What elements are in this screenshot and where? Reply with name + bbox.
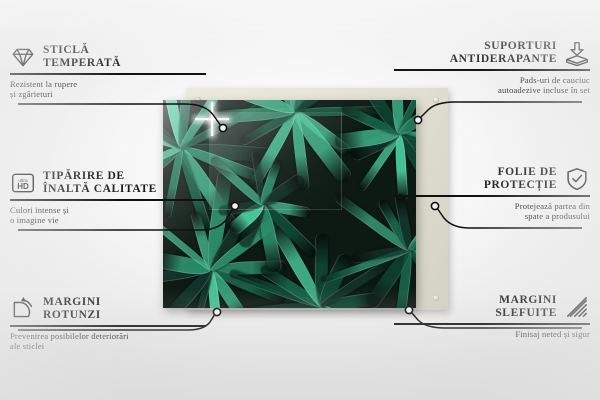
shield-check-icon <box>564 166 590 192</box>
feature-header: MARGINI SLEFUITE <box>394 294 590 320</box>
feature-description: Culori intense și o imagine vie <box>10 205 206 226</box>
feature-header: ultra HD TIPĂRIRE DE ÎNALTĂ CALITATE <box>10 170 206 196</box>
feature-header: SUPORTURI ANTIDERAPANTE <box>394 40 590 66</box>
feature-margini-rotunzi: MARGINI ROTUNZI Prevenirea posibilelor d… <box>10 296 206 352</box>
feature-divider <box>394 195 590 197</box>
feature-sticla-temperata: STICLĂ TEMPERATĂ Rezistent la rupere și … <box>10 44 206 100</box>
feature-header: FOLIE DE PROTECȚIE <box>394 166 590 192</box>
hatched-edge-icon <box>564 294 590 320</box>
feature-title: SUPORTURI ANTIDERAPANTE <box>450 40 557 65</box>
feature-description: Protejează partea din spate a produsului <box>394 201 590 222</box>
feature-title: FOLIE DE PROTECȚIE <box>484 166 557 191</box>
feature-title: MARGINI SLEFUITE <box>495 294 557 319</box>
rounded-corner-icon <box>10 296 36 322</box>
feature-divider <box>10 199 206 201</box>
feature-description: Finisaj neted și sigur <box>394 329 590 340</box>
press-pad-icon <box>564 40 590 66</box>
corner-pad <box>433 97 439 103</box>
feature-margini-slefuite: MARGINI SLEFUITE Finisaj neted și sigur <box>394 294 590 339</box>
feature-title: STICLĂ TEMPERATĂ <box>43 44 121 69</box>
infographic-canvas: STICLĂ TEMPERATĂ Rezistent la rupere și … <box>0 0 600 400</box>
feature-header: MARGINI ROTUNZI <box>10 296 206 322</box>
feature-title: MARGINI ROTUNZI <box>43 296 101 321</box>
feature-tiparire-inalta-calitate: ultra HD TIPĂRIRE DE ÎNALTĂ CALITATE Cul… <box>10 170 206 226</box>
ultra-hd-icon: ultra HD <box>10 170 36 196</box>
feature-suporturi-antiderapante: SUPORTURI ANTIDERAPANTE Pads-uri de cauc… <box>394 40 590 96</box>
feature-divider <box>10 73 206 75</box>
svg-text:HD: HD <box>17 182 29 191</box>
feature-folie-de-protectie: FOLIE DE PROTECȚIE Protejează partea din… <box>394 166 590 222</box>
diamond-icon <box>10 44 36 70</box>
feature-divider <box>394 69 590 71</box>
feature-divider <box>10 325 206 327</box>
feature-title: TIPĂRIRE DE ÎNALTĂ CALITATE <box>43 170 157 195</box>
feature-description: Rezistent la rupere și zgârieturi <box>10 79 206 100</box>
feature-divider <box>394 323 590 325</box>
feature-header: STICLĂ TEMPERATĂ <box>10 44 206 70</box>
feature-description: Pads-uri de cauciuc autoadezive incluse … <box>394 75 590 96</box>
feature-description: Prevenirea posibilelor deteriorări ale s… <box>10 331 206 352</box>
